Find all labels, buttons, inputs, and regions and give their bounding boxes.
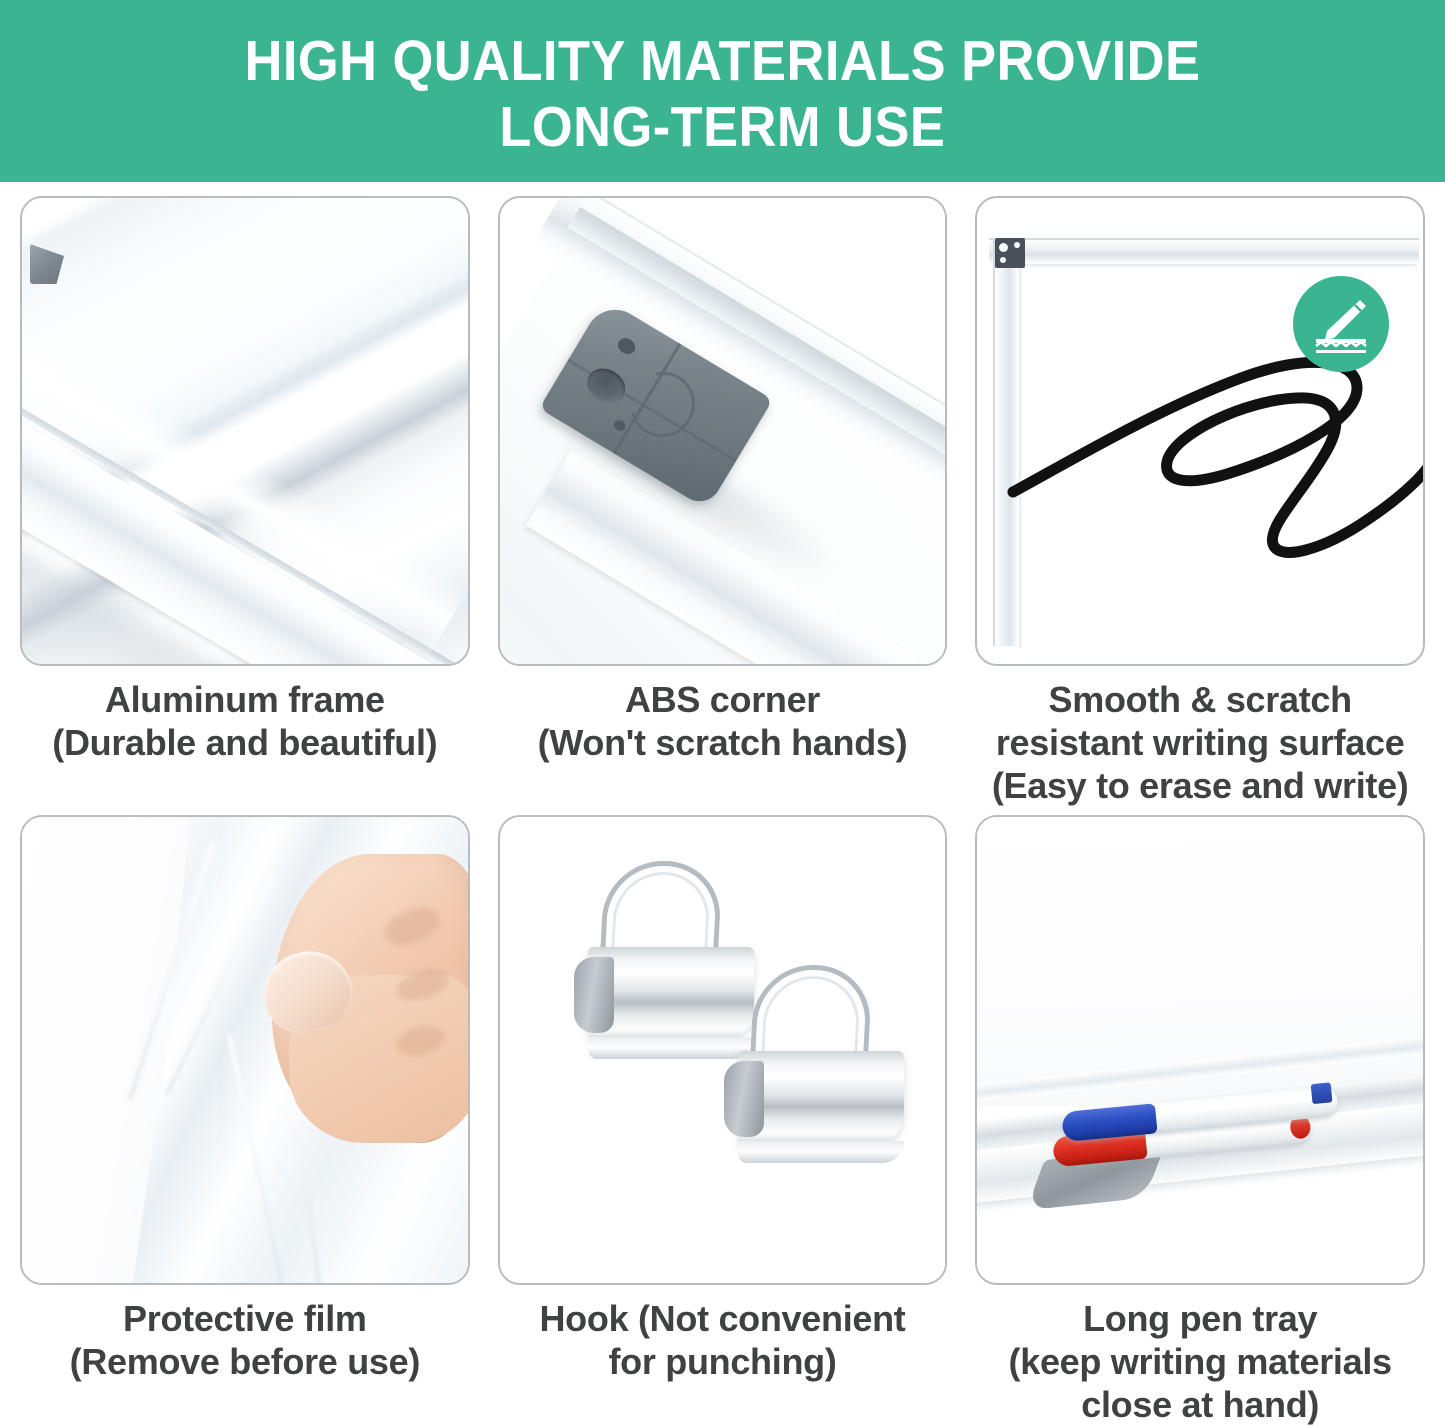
- caption-line: (Durable and beautiful): [11, 721, 479, 764]
- caption-line: (Won't scratch hands): [489, 721, 957, 764]
- feature-card-protective-film: Protective film (Remove before use): [20, 815, 470, 1426]
- abs-corner-photo: [498, 196, 948, 666]
- hook-clip-lip: [724, 1061, 764, 1137]
- caption-line: Long pen tray: [966, 1297, 1434, 1340]
- abs-small-hole: [615, 335, 638, 357]
- writing-surface-photo: [975, 196, 1425, 666]
- caption-line: Smooth & scratch: [966, 678, 1434, 721]
- aluminum-frame-photo: [20, 196, 470, 666]
- feature-card-pen-tray: Long pen tray (keep writing materials cl…: [975, 815, 1425, 1426]
- abs-screw-hole: [581, 362, 632, 410]
- feature-card-hook: Hook (Not convenient for punching): [498, 815, 948, 1426]
- pen-tray-caption: Long pen tray (keep writing materials cl…: [966, 1297, 1434, 1426]
- pen-on-surface-icon: [1310, 293, 1372, 355]
- caption-line: (Remove before use): [11, 1340, 479, 1383]
- caption-line: Aluminum frame: [11, 678, 479, 721]
- blue-marker-tip: [1311, 1082, 1332, 1104]
- caption-line: Hook (Not convenient: [489, 1297, 957, 1340]
- feature-card-writing-surface: Smooth & scratch resistant writing surfa…: [975, 196, 1425, 807]
- feature-card-abs-corner: ABS corner (Won't scratch hands): [498, 196, 948, 807]
- feature-grid: Aluminum frame (Durable and beautiful) A…: [0, 182, 1445, 1426]
- whiteboard-corner-bracket: [995, 238, 1025, 268]
- hook-clip-edge: [738, 1141, 904, 1163]
- bracket-hole: [1014, 242, 1020, 248]
- caption-line: (keep writing materials: [966, 1340, 1434, 1383]
- caption-line: ABS corner: [489, 678, 957, 721]
- protective-film-photo: [20, 815, 470, 1285]
- bracket-hole: [999, 243, 1008, 252]
- caption-line: close at hand): [966, 1383, 1434, 1426]
- hook-clip-lip: [574, 957, 614, 1033]
- smooth-surface-badge: [1293, 276, 1389, 372]
- caption-line: resistant writing surface: [966, 721, 1434, 764]
- banner-title-line-2: LONG-TERM USE: [500, 94, 946, 160]
- header-banner: HIGH QUALITY MATERIALS PROVIDE LONG-TERM…: [0, 0, 1445, 182]
- hook-photo: [498, 815, 948, 1285]
- caption-line: Protective film: [11, 1297, 479, 1340]
- hook-caption: Hook (Not convenient for punching): [489, 1297, 957, 1383]
- writing-surface-caption: Smooth & scratch resistant writing surfa…: [966, 678, 1434, 807]
- hook-clip-edge: [588, 1037, 754, 1059]
- feature-card-aluminum-frame: Aluminum frame (Durable and beautiful): [20, 196, 470, 807]
- pen-tray-photo: [975, 815, 1425, 1285]
- bracket-hole: [1000, 257, 1006, 263]
- caption-line: (Easy to erase and write): [966, 764, 1434, 807]
- abs-corner-caption: ABS corner (Won't scratch hands): [489, 678, 957, 764]
- aluminum-frame-caption: Aluminum frame (Durable and beautiful): [11, 678, 479, 764]
- caption-line: for punching): [489, 1340, 957, 1383]
- whiteboard-top-frame: [989, 238, 1419, 264]
- protective-film-caption: Protective film (Remove before use): [11, 1297, 479, 1383]
- banner-title-line-1: HIGH QUALITY MATERIALS PROVIDE: [245, 28, 1201, 94]
